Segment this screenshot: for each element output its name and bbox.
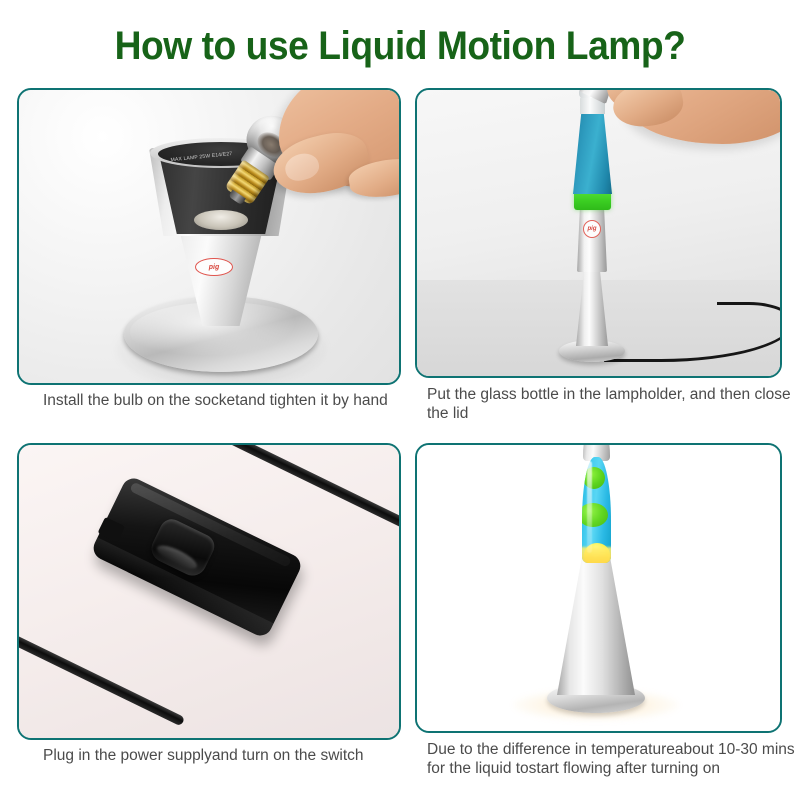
step-2-caption: Put the glass bottle in the lampholder, … <box>427 385 799 423</box>
bulb-socket <box>194 210 248 230</box>
step-1: MAX LAMP 25W E14/E27 pig <box>17 88 401 433</box>
brand-logo-text: pig <box>588 226 597 232</box>
power-cord-lower <box>17 634 185 726</box>
page-title: How to use Liquid Motion Lamp? <box>28 24 772 69</box>
brand-logo-sticker: pig <box>583 220 601 238</box>
step-4-scene <box>417 445 780 731</box>
power-cord-curve <box>717 302 782 342</box>
hand-holding-bulb <box>265 88 401 244</box>
power-cord-upper <box>223 443 401 533</box>
brand-logo-text: pig <box>209 264 220 271</box>
lampholder <box>577 206 607 272</box>
step-1-photo: MAX LAMP 25W E14/E27 pig <box>17 88 401 385</box>
step-2-photo: pig <box>415 88 782 378</box>
step-2: pig Put the glass bottle in the lamphold… <box>415 88 782 433</box>
step-4-caption: Due to the difference in temperatureabou… <box>427 740 799 778</box>
step-4-photo <box>415 443 782 733</box>
brand-logo-sticker: pig <box>195 258 233 276</box>
cord-strain-relief <box>97 517 125 543</box>
lava-blob-green-middle <box>582 503 608 527</box>
hand-holding-cap <box>603 88 782 176</box>
glass-highlight <box>587 461 592 553</box>
rocker-switch-button[interactable] <box>147 515 218 580</box>
step-2-scene: pig <box>417 90 780 376</box>
step-3-photo <box>17 443 401 740</box>
step-3-scene <box>19 445 399 738</box>
step-3-caption: Plug in the power supplyand turn on the … <box>43 746 393 765</box>
infographic-page: How to use Liquid Motion Lamp? MAX LAMP … <box>0 0 800 800</box>
step-1-scene: MAX LAMP 25W E14/E27 pig <box>19 90 399 383</box>
step-1-caption: Install the bulb on the socketand tighte… <box>43 391 393 410</box>
lamp-base-cone <box>557 557 635 695</box>
step-4: Due to the difference in temperatureabou… <box>415 443 782 788</box>
inline-switch-body <box>90 474 305 639</box>
step-3: Plug in the power supplyand turn on the … <box>17 443 401 788</box>
